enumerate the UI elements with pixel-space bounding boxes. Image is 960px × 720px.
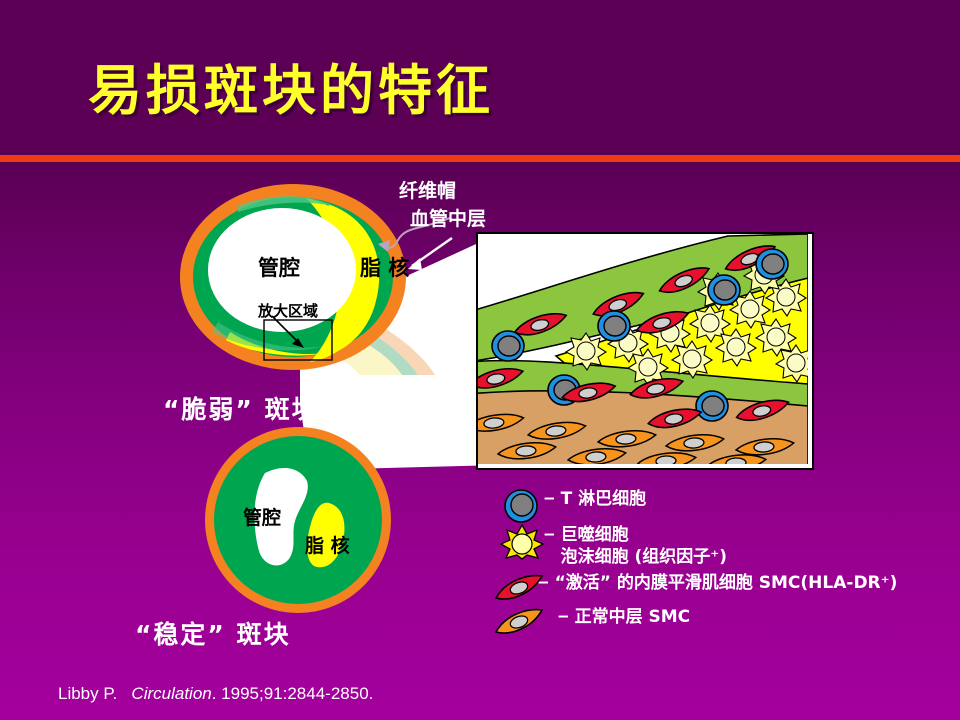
legend-label-macrophage: 巨噬细胞 (561, 524, 727, 546)
legend-dash: – (558, 606, 569, 628)
magnified-tissue-panel (476, 232, 814, 470)
legend-item-macrophage: – 巨噬细胞 泡沫细胞 (组织因子⁺) (500, 524, 727, 568)
slide-title: 易损斑块的特征 (88, 46, 494, 125)
legend-label-foam-cell: 泡沫细胞 (组织因子⁺) (561, 546, 727, 568)
legend-label-normal-smc: 正常中层 SMC (575, 606, 691, 628)
magnified-region-label: 放大区域 (258, 300, 318, 321)
vulnerable-lumen-label: 管腔 (258, 252, 300, 282)
legend-item-normal-smc: – 正常中层 SMC (494, 606, 690, 642)
header-divider-rule (0, 155, 960, 162)
stable-plaque-caption: “稳定” 斑块 (135, 615, 291, 651)
legend-item-activated-smc: – “激活” 的内膜平滑肌细胞 SMC(HLA-DR⁺) (494, 572, 897, 608)
media-label: 血管中层 (410, 204, 486, 231)
activated-smc-icon (494, 572, 538, 608)
citation-author: Libby P. (58, 684, 117, 703)
legend-item-t-lymphocyte: – T 淋巴细胞 (500, 488, 646, 524)
stable-lipid-core-label: 脂 核 (305, 531, 350, 558)
macrophage-foam-cell-icon (500, 524, 544, 560)
slide-canvas: 易损斑块的特征 放大区域 管腔 脂 核 纤维帽 (0, 0, 960, 720)
citation-details: . 1995;91:2844-2850. (212, 684, 374, 703)
legend-dash: – (544, 524, 555, 546)
legend-dash: – (544, 488, 555, 510)
normal-media-smc-icon (494, 606, 558, 642)
vulnerable-plaque-caption: “脆弱” 斑块 (163, 390, 319, 426)
stable-lumen-label: 管腔 (243, 503, 281, 530)
legend-label-activated-smc: “激活” 的内膜平滑肌细胞 SMC(HLA-DR⁺) (555, 572, 898, 594)
citation: Libby P. Circulation. 1995;91:2844-2850. (58, 684, 373, 704)
fibrous-cap-label: 纤维帽 (399, 176, 456, 203)
stable-plaque-diagram (203, 425, 393, 615)
t-lymphocyte-icon (500, 488, 544, 524)
legend-label-t-lymphocyte: T 淋巴细胞 (561, 488, 647, 510)
citation-journal: Circulation (131, 684, 211, 703)
